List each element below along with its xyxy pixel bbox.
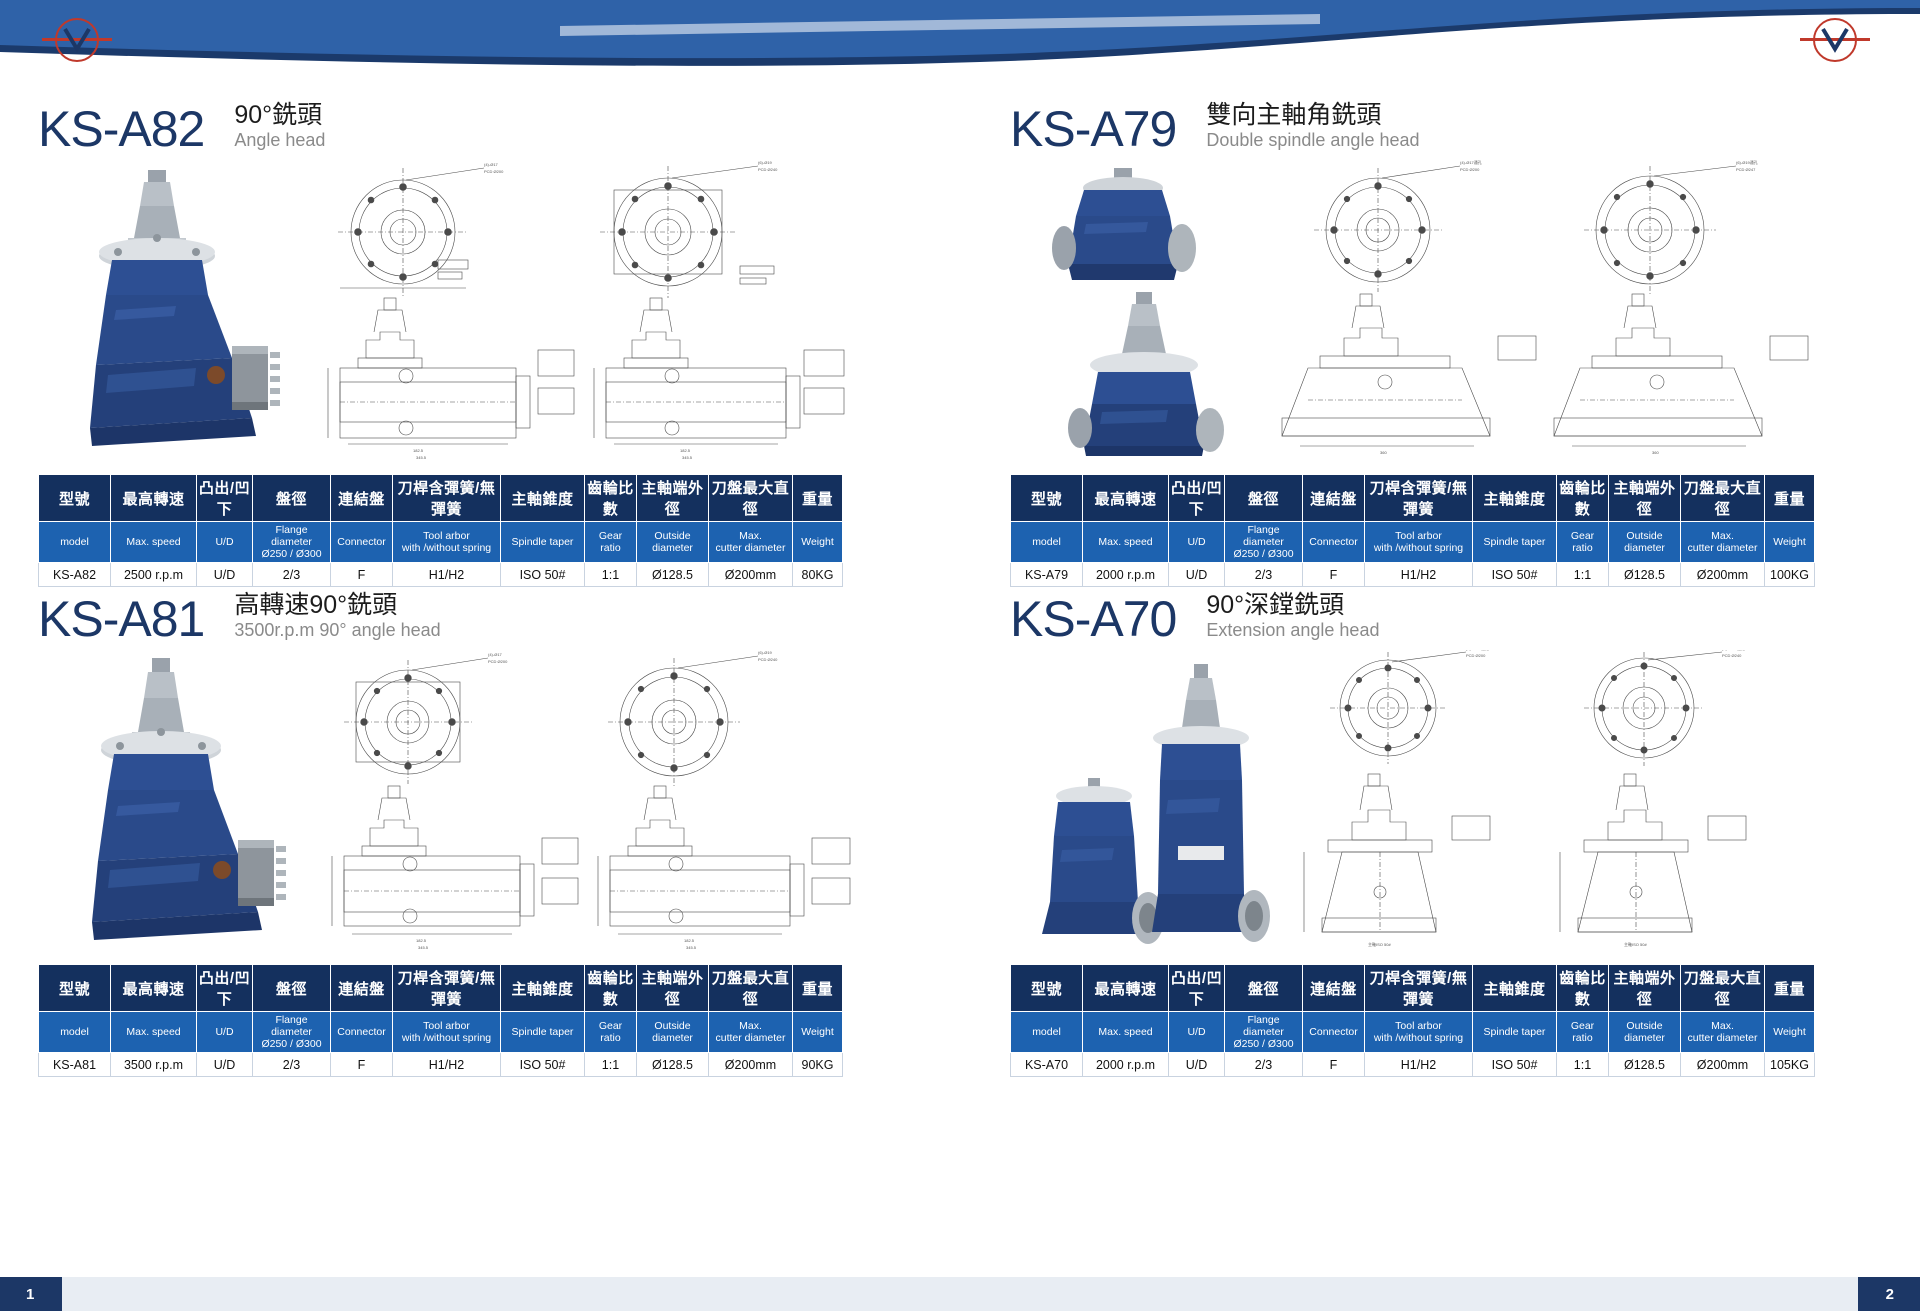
drawing-note: PCD Ø200	[488, 659, 508, 664]
spec-header-row-cn: 型號 最高轉速 凸出/凹下 盤徑 連結盤 刀桿含彈簧/無彈簧 主軸錐度 齒輪比數…	[39, 965, 843, 1012]
spec-th-cn: 主軸端外徑	[1609, 965, 1681, 1012]
spec-th-en: Max. speed	[111, 1012, 197, 1053]
spec-th-en: Flange diameterØ250 / Ø300	[253, 1012, 331, 1053]
spec-header-row-en: model Max. speed U/D Flange diameterØ250…	[39, 522, 843, 563]
spec-th-en: Gearratio	[1557, 1012, 1609, 1053]
spec-th-en: U/D	[197, 522, 253, 563]
product-title-names: 90°銑頭 Angle head	[234, 101, 325, 154]
spec-th-cn: 刀桿含彈簧/無彈簧	[1365, 965, 1473, 1012]
product-name-en: Extension angle head	[1206, 620, 1379, 642]
spec-th-en: Gearratio	[585, 522, 637, 563]
spec-th-cn: 連結盤	[331, 965, 393, 1012]
spec-cell: ISO 50#	[501, 1053, 585, 1077]
spec-table-ks-a82: 型號 最高轉速 凸出/凹下 盤徑 連結盤 刀桿含彈簧/無彈簧 主軸錐度 齒輪比數…	[38, 474, 843, 587]
spec-th-cn: 齒輪比數	[585, 475, 637, 522]
spec-th-cn: 主軸錐度	[1473, 475, 1557, 522]
spec-th-en: Max. speed	[111, 522, 197, 563]
page-number-left: 1	[26, 1286, 34, 1303]
product-title-row: KS-A79 雙向主軸角銑頭 Double spindle angle head	[1010, 88, 1900, 154]
drawing-note: 主軸ISO 50#	[1368, 941, 1391, 947]
drawing-note: (6)-Ø19	[758, 650, 773, 655]
drawing-note: 182.5	[680, 448, 691, 453]
spec-th-en: Max.cutter diameter	[709, 522, 793, 563]
spec-th-cn: 型號	[39, 475, 111, 522]
drawing-note: 主軸ISO 50#	[1624, 941, 1647, 947]
spec-th-cn: 盤徑	[1225, 965, 1303, 1012]
spec-th-cn: 刀盤最大直徑	[709, 475, 793, 522]
spec-cell: 1:1	[585, 1053, 637, 1077]
product-title-row: KS-A70 90°深鏜銑頭 Extension angle head	[1010, 578, 1900, 644]
product-photo-ks-a81	[56, 650, 306, 950]
spec-cell: 3500 r.p.m	[111, 1053, 197, 1077]
spec-th-cn: 盤徑	[253, 475, 331, 522]
drawing-note: PCD Ø200	[1466, 653, 1486, 658]
spec-th-cn: 型號	[1011, 475, 1083, 522]
spec-th-cn: 連結盤	[331, 475, 393, 522]
spec-th-en: Spindle taper	[1473, 1012, 1557, 1053]
drawing-note: PCD Ø247	[1736, 167, 1756, 172]
spec-table-ks-a70: 型號 最高轉速 凸出/凹下 盤徑 連結盤 刀桿含彈簧/無彈簧 主軸錐度 齒輪比數…	[1010, 964, 1815, 1077]
spec-th-cn: 最高轉速	[1083, 965, 1169, 1012]
drawing-note: 182.5	[413, 448, 424, 453]
spec-th-en: Flange diameterØ250 / Ø300	[1225, 1012, 1303, 1053]
drawing-note: 345.5	[686, 945, 697, 950]
spec-th-cn: 凸出/凹下	[197, 475, 253, 522]
spec-th-en: model	[1011, 1012, 1083, 1053]
spec-th-en: Weight	[793, 522, 843, 563]
spec-table-ks-a81: 型號 最高轉速 凸出/凹下 盤徑 連結盤 刀桿含彈簧/無彈簧 主軸錐度 齒輪比數…	[38, 964, 843, 1077]
spec-th-cn: 主軸端外徑	[637, 965, 709, 1012]
product-photo-ks-a79	[1028, 160, 1278, 460]
spec-th-cn: 型號	[39, 965, 111, 1012]
product-photo-ks-a70	[1028, 650, 1278, 950]
spec-th-cn: 主軸錐度	[1473, 965, 1557, 1012]
spec-th-en: Max. speed	[1083, 1012, 1169, 1053]
spec-th-en: Tool arborwith /without spring	[393, 522, 501, 563]
technical-drawing-ks-a70: (4)-Ø17 通孔 PCD Ø200 (6)-Ø19 通孔 PCD Ø240 …	[1260, 650, 1900, 950]
spec-th-cn: 齒輪比數	[1557, 475, 1609, 522]
drawing-note: 360	[1380, 450, 1387, 455]
spec-cell: U/D	[1169, 1053, 1225, 1077]
spec-header-row-en: model Max. speed U/D Flange diameterØ250…	[1011, 1012, 1815, 1053]
spec-th-cn: 主軸錐度	[501, 965, 585, 1012]
spec-th-en: Max.cutter diameter	[1681, 1012, 1765, 1053]
product-model-code: KS-A82	[38, 104, 204, 154]
page-footer: 1 2	[0, 1273, 1920, 1311]
spec-th-cn: 凸出/凹下	[1169, 965, 1225, 1012]
technical-drawing-ks-a79: (4)-Ø17通孔 PCD Ø200 (6)-Ø19通孔 PCD Ø247 36…	[1260, 160, 1900, 460]
spec-th-en: model	[39, 522, 111, 563]
spec-th-en: Connector	[331, 1012, 393, 1053]
spec-cell: KS-A70	[1011, 1053, 1083, 1077]
spec-cell: 2/3	[253, 1053, 331, 1077]
spec-th-en: Gearratio	[1557, 522, 1609, 563]
spec-th-en: Spindle taper	[501, 522, 585, 563]
product-title-names: 高轉速90°銑頭 3500r.p.m 90° angle head	[234, 591, 440, 644]
drawing-note: 345.5	[682, 455, 693, 460]
spec-th-en: Weight	[1765, 522, 1815, 563]
spec-cell: 2/3	[1225, 1053, 1303, 1077]
drawing-note: 345.5	[418, 945, 429, 950]
page-header-banner	[0, 0, 1920, 78]
drawing-note: 182.5	[684, 938, 695, 943]
technical-drawing-ks-a81: (4)-Ø17 PCD Ø200 (6)-Ø19 PCD Ø240 182.5 …	[288, 650, 938, 950]
spec-th-en: Spindle taper	[501, 1012, 585, 1053]
logo-vee-icon	[1821, 27, 1849, 53]
spec-th-en: Connector	[1303, 1012, 1365, 1053]
spec-th-cn: 型號	[1011, 965, 1083, 1012]
product-figures: (4)-Ø17 PCD Ø200 (6)-Ø19 PCD Ø240 182.5 …	[38, 650, 938, 950]
spec-cell: H1/H2	[1365, 1053, 1473, 1077]
spec-cell: KS-A81	[39, 1053, 111, 1077]
spec-header-row-en: model Max. speed U/D Flange diameterØ250…	[39, 1012, 843, 1053]
spec-th-en: Weight	[793, 1012, 843, 1053]
spec-th-cn: 齒輪比數	[1557, 965, 1609, 1012]
drawing-note: 345.5	[416, 455, 427, 460]
spec-th-cn: 刀桿含彈簧/無彈簧	[393, 965, 501, 1012]
spec-th-en: Tool arborwith /without spring	[393, 1012, 501, 1053]
product-title-row: KS-A81 高轉速90°銑頭 3500r.p.m 90° angle head	[38, 578, 938, 644]
spec-cell: 90KG	[793, 1053, 843, 1077]
product-name-cn: 90°深鏜銑頭	[1206, 591, 1379, 621]
spec-th-cn: 重量	[793, 475, 843, 522]
technical-drawing-ks-a82: (4)-Ø17 PCD Ø200 (6)-Ø19 PCD Ø240 182.5 …	[288, 160, 938, 460]
product-title-names: 雙向主軸角銑頭 Double spindle angle head	[1206, 101, 1419, 154]
spec-th-en: Tool arborwith /without spring	[1365, 522, 1473, 563]
spec-th-en: model	[1011, 522, 1083, 563]
spec-th-cn: 最高轉速	[1083, 475, 1169, 522]
spec-th-en: Flange diameterØ250 / Ø300	[253, 522, 331, 563]
spec-header-row-cn: 型號 最高轉速 凸出/凹下 盤徑 連結盤 刀桿含彈簧/無彈簧 主軸錐度 齒輪比數…	[1011, 965, 1815, 1012]
product-panel-ks-a81: KS-A81 高轉速90°銑頭 3500r.p.m 90° angle head	[38, 578, 938, 1077]
spec-cell: 1:1	[1557, 1053, 1609, 1077]
drawing-note: (4)-Ø17通孔	[1460, 160, 1482, 165]
product-model-code: KS-A70	[1010, 594, 1176, 644]
spec-th-en: Tool arborwith /without spring	[1365, 1012, 1473, 1053]
footer-bar	[0, 1277, 1920, 1311]
spec-th-cn: 盤徑	[253, 965, 331, 1012]
drawing-note: PCD Ø200	[1460, 167, 1480, 172]
drawing-note: PCD Ø240	[758, 657, 778, 662]
product-name-cn: 雙向主軸角銑頭	[1206, 101, 1419, 131]
spec-table-ks-a79: 型號 最高轉速 凸出/凹下 盤徑 連結盤 刀桿含彈簧/無彈簧 主軸錐度 齒輪比數…	[1010, 474, 1815, 587]
spec-th-cn: 連結盤	[1303, 475, 1365, 522]
product-figures: (4)-Ø17 PCD Ø200 (6)-Ø19 PCD Ø240 182.5 …	[38, 160, 938, 460]
product-model-code: KS-A81	[38, 594, 204, 644]
spec-cell: Ø128.5	[1609, 1053, 1681, 1077]
company-logo-left	[42, 18, 112, 62]
spec-th-en: Spindle taper	[1473, 522, 1557, 563]
spec-header-row-cn: 型號 最高轉速 凸出/凹下 盤徑 連結盤 刀桿含彈簧/無彈簧 主軸錐度 齒輪比數…	[1011, 475, 1815, 522]
product-photo-ks-a82	[56, 160, 306, 460]
spec-th-cn: 主軸錐度	[501, 475, 585, 522]
spec-th-en: Weight	[1765, 1012, 1815, 1053]
product-name-cn: 高轉速90°銑頭	[234, 591, 440, 621]
drawing-note: (6)-Ø19 通孔	[1722, 650, 1745, 651]
spec-th-cn: 最高轉速	[111, 965, 197, 1012]
page-number-right: 2	[1886, 1286, 1894, 1303]
spec-th-cn: 重量	[793, 965, 843, 1012]
product-title-names: 90°深鏜銑頭 Extension angle head	[1206, 591, 1379, 644]
product-panel-ks-a70: KS-A70 90°深鏜銑頭 Extension angle head	[1010, 578, 1900, 1077]
spec-header-row-en: model Max. speed U/D Flange diameterØ250…	[1011, 522, 1815, 563]
spec-cell: Ø128.5	[637, 1053, 709, 1077]
spec-value-row: KS-A70 2000 r.p.m U/D 2/3 F H1/H2 ISO 50…	[1011, 1053, 1815, 1077]
spec-th-en: Max.cutter diameter	[709, 1012, 793, 1053]
spec-th-en: Outsidediameter	[1609, 522, 1681, 563]
spec-cell: 105KG	[1765, 1053, 1815, 1077]
spec-th-en: U/D	[1169, 1012, 1225, 1053]
spec-th-en: Connector	[1303, 522, 1365, 563]
drawing-note: 182.5	[416, 938, 427, 943]
drawing-note: (6)-Ø19通孔	[1736, 160, 1758, 165]
spec-th-cn: 重量	[1765, 965, 1815, 1012]
spec-th-cn: 最高轉速	[111, 475, 197, 522]
drawing-note: (4)-Ø17	[488, 652, 503, 657]
spec-cell: F	[331, 1053, 393, 1077]
drawing-note: (4)-Ø17 通孔	[1466, 650, 1489, 651]
spec-cell: Ø200mm	[709, 1053, 793, 1077]
spec-th-en: Outsidediameter	[637, 1012, 709, 1053]
spec-th-cn: 重量	[1765, 475, 1815, 522]
drawing-note: 360	[1652, 450, 1659, 455]
spec-th-en: model	[39, 1012, 111, 1053]
spec-cell: U/D	[197, 1053, 253, 1077]
spec-th-cn: 刀盤最大直徑	[1681, 475, 1765, 522]
product-name-cn: 90°銑頭	[234, 101, 325, 131]
product-panel-ks-a82: KS-A82 90°銑頭 Angle head	[38, 88, 938, 587]
spec-th-en: U/D	[1169, 522, 1225, 563]
logo-vee-icon	[63, 27, 91, 53]
product-name-en: Angle head	[234, 130, 325, 152]
product-name-en: Double spindle angle head	[1206, 130, 1419, 152]
spec-th-cn: 齒輪比數	[585, 965, 637, 1012]
spec-th-en: Outsidediameter	[1609, 1012, 1681, 1053]
drawing-note: (4)-Ø17	[484, 162, 499, 167]
spec-th-cn: 凸出/凹下	[197, 965, 253, 1012]
drawing-note: (6)-Ø19	[758, 160, 773, 165]
spec-th-cn: 刀桿含彈簧/無彈簧	[393, 475, 501, 522]
spec-th-cn: 凸出/凹下	[1169, 475, 1225, 522]
spec-th-cn: 刀盤最大直徑	[1681, 965, 1765, 1012]
product-name-en: 3500r.p.m 90° angle head	[234, 620, 440, 642]
spec-th-cn: 盤徑	[1225, 475, 1303, 522]
spec-th-en: U/D	[197, 1012, 253, 1053]
spec-th-cn: 刀盤最大直徑	[709, 965, 793, 1012]
product-figures: (4)-Ø17 通孔 PCD Ø200 (6)-Ø19 通孔 PCD Ø240 …	[1010, 650, 1900, 950]
spec-cell: F	[1303, 1053, 1365, 1077]
product-model-code: KS-A79	[1010, 104, 1176, 154]
drawing-note: PCD Ø240	[758, 167, 778, 172]
spec-value-row: KS-A81 3500 r.p.m U/D 2/3 F H1/H2 ISO 50…	[39, 1053, 843, 1077]
spec-header-row-cn: 型號 最高轉速 凸出/凹下 盤徑 連結盤 刀桿含彈簧/無彈簧 主軸錐度 齒輪比數…	[39, 475, 843, 522]
drawing-note: PCD Ø240	[1722, 653, 1742, 658]
company-logo-right	[1800, 18, 1870, 62]
product-panel-ks-a79: KS-A79 雙向主軸角銑頭 Double spindle angle head	[1010, 88, 1900, 587]
spec-cell: H1/H2	[393, 1053, 501, 1077]
spec-th-en: Flange diameterØ250 / Ø300	[1225, 522, 1303, 563]
spec-th-cn: 連結盤	[1303, 965, 1365, 1012]
spec-th-cn: 刀桿含彈簧/無彈簧	[1365, 475, 1473, 522]
spec-th-cn: 主軸端外徑	[637, 475, 709, 522]
spec-th-en: Max.cutter diameter	[1681, 522, 1765, 563]
spec-th-cn: 主軸端外徑	[1609, 475, 1681, 522]
product-figures: (4)-Ø17通孔 PCD Ø200 (6)-Ø19通孔 PCD Ø247 36…	[1010, 160, 1900, 460]
spec-th-en: Outsidediameter	[637, 522, 709, 563]
spec-th-en: Max. speed	[1083, 522, 1169, 563]
catalog-sheet: KS-A82 90°銑頭 Angle head	[0, 78, 1920, 1273]
spec-cell: ISO 50#	[1473, 1053, 1557, 1077]
drawing-note: PCD Ø200	[484, 169, 504, 174]
spec-cell: Ø200mm	[1681, 1053, 1765, 1077]
spec-th-en: Connector	[331, 522, 393, 563]
spec-cell: 2000 r.p.m	[1083, 1053, 1169, 1077]
spec-th-en: Gearratio	[585, 1012, 637, 1053]
product-title-row: KS-A82 90°銑頭 Angle head	[38, 88, 938, 154]
